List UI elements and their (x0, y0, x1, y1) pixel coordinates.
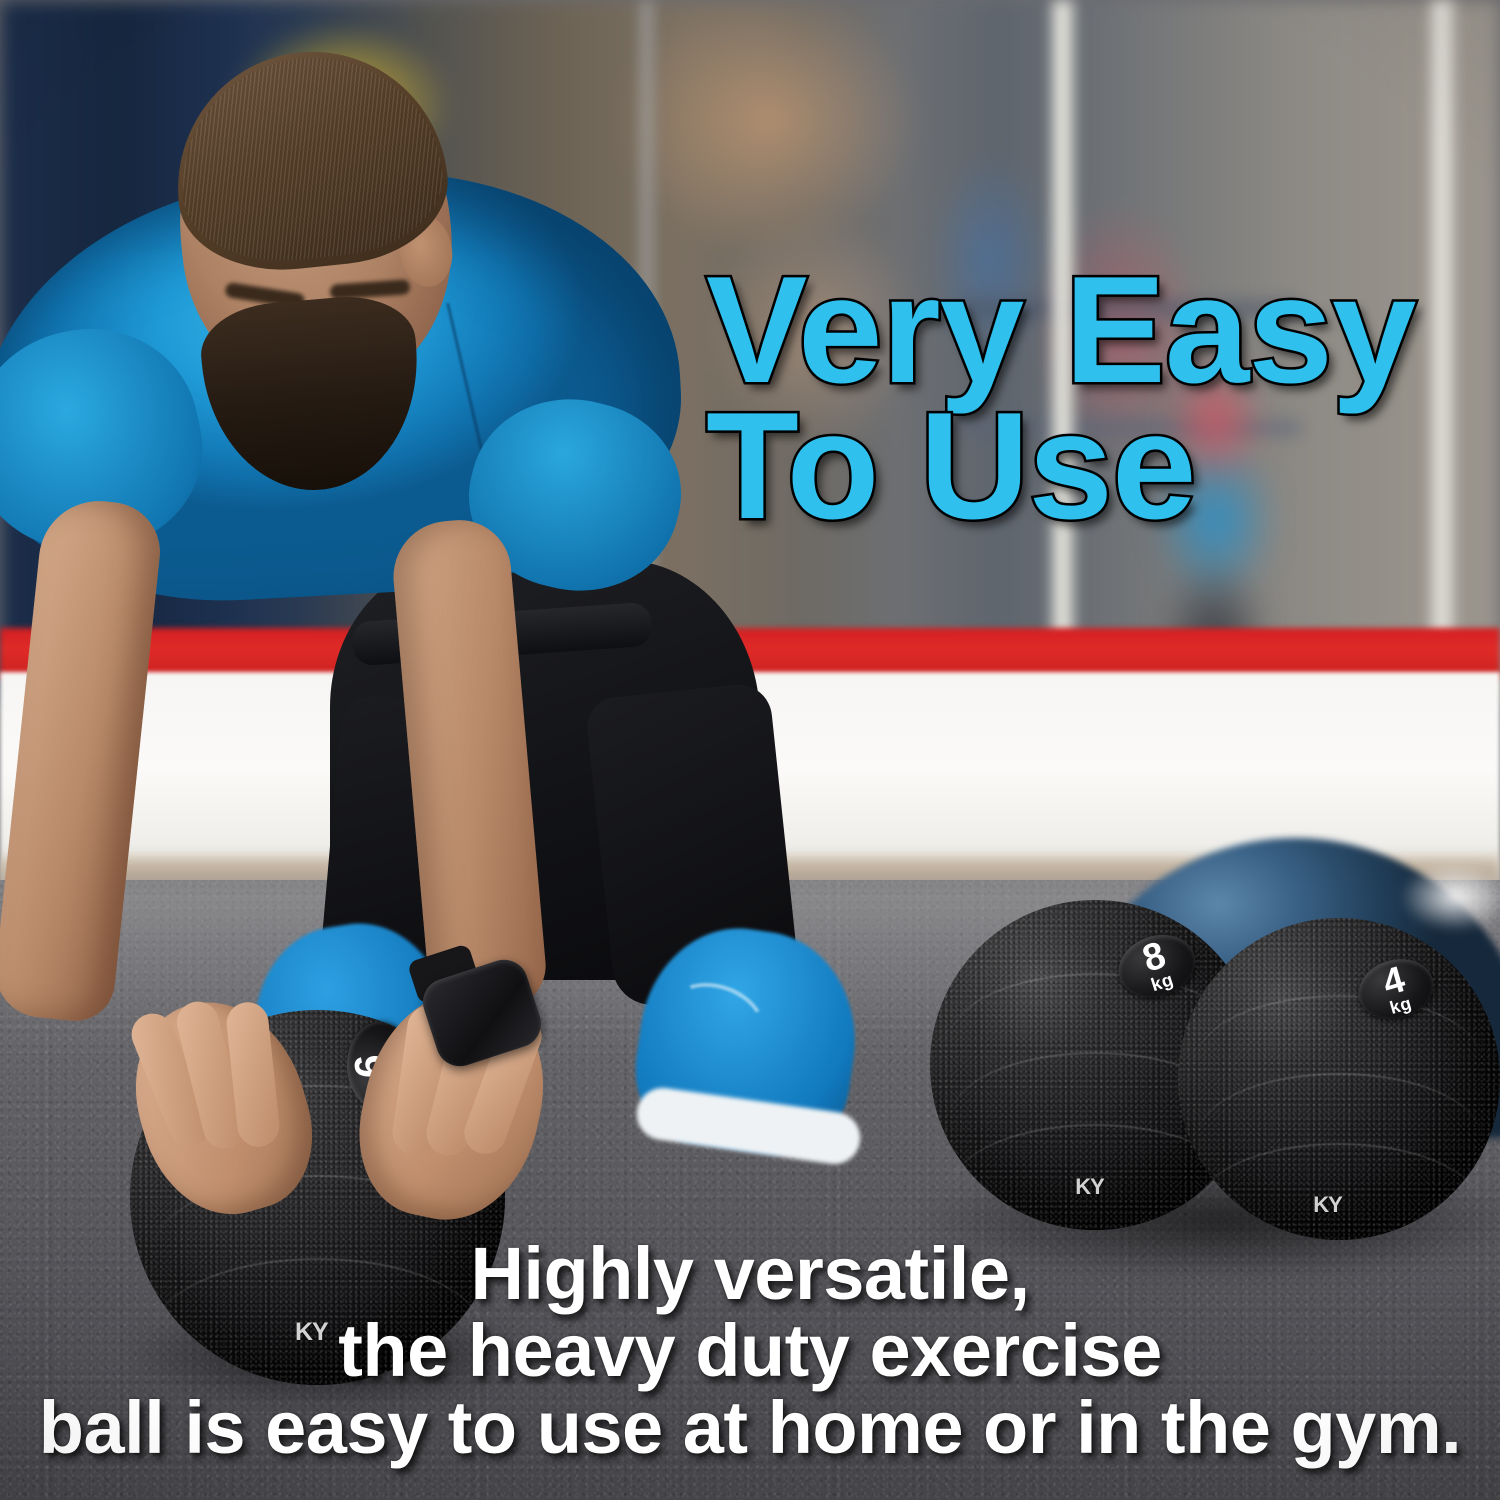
caption-line-2: the heavy duty exercise (0, 1313, 1500, 1390)
dome-highlight (1400, 862, 1500, 932)
ball-weight-unit: kg (1388, 994, 1413, 1016)
headline-line-2: To Use (706, 394, 1476, 540)
marketing-banner: 8 kg KY 4 kg KY 6 kg KY (0, 0, 1500, 1500)
ball-brand-logo: KY (1313, 1192, 1342, 1218)
ball-brand-logo: KY (1075, 1174, 1104, 1200)
caption-line-3: ball is easy to use at home or in the gy… (0, 1390, 1500, 1467)
caption-block: Highly versatile, the heavy duty exercis… (0, 1236, 1500, 1467)
ball-weight-unit: kg (1149, 972, 1175, 995)
athlete-arm-left (0, 495, 165, 1025)
headline: Very Easy To Use (706, 258, 1476, 540)
slam-ball-4kg: 4 kg KY (1178, 918, 1500, 1240)
caption-line-1: Highly versatile, (0, 1236, 1500, 1313)
